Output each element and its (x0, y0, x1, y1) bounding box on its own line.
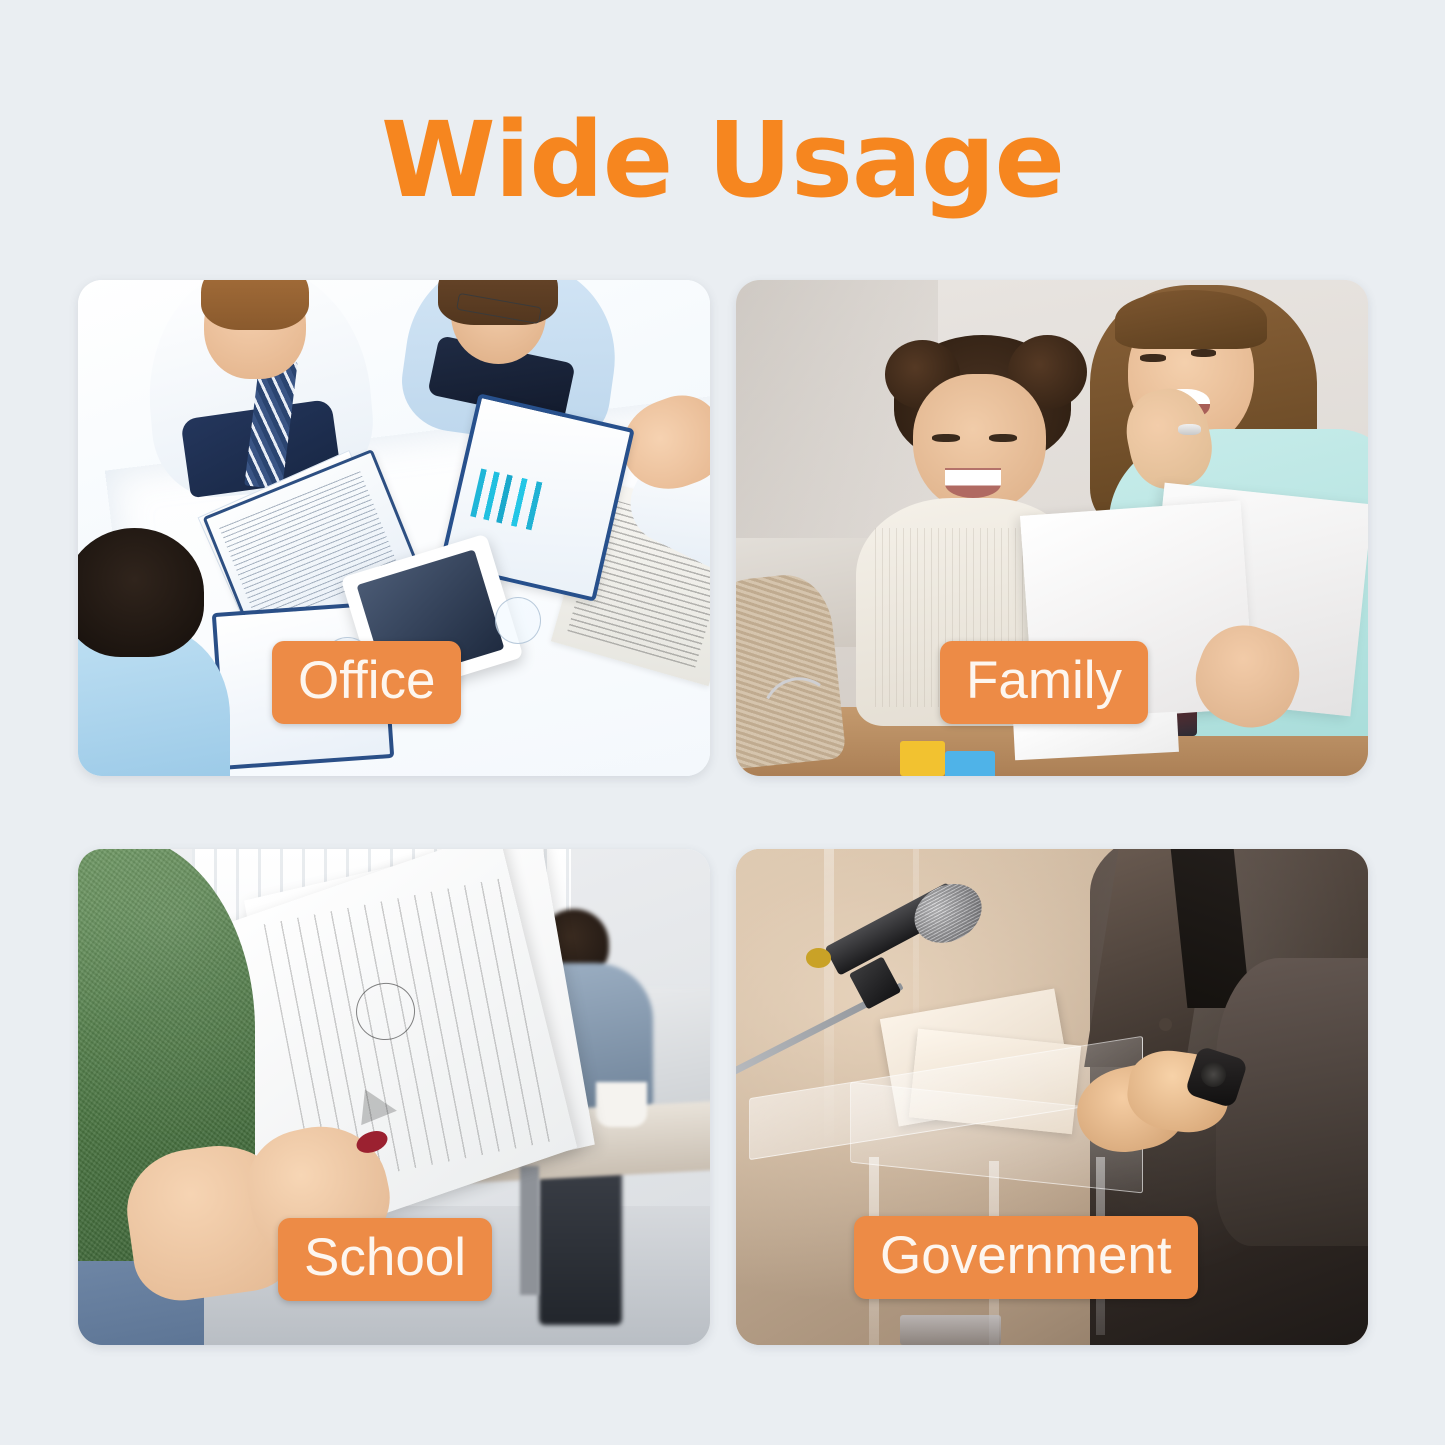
usage-card-office[interactable]: Office (78, 280, 710, 776)
page-title: Wide Usage (0, 108, 1445, 212)
usage-card-family[interactable]: Family (736, 280, 1368, 776)
usage-scenario-grid: Office (78, 280, 1368, 1345)
badge-office: Office (272, 641, 461, 724)
badge-school: School (278, 1218, 492, 1301)
usage-card-school[interactable]: School (78, 849, 710, 1345)
badge-family: Family (940, 641, 1148, 724)
usage-card-government[interactable]: Government (736, 849, 1368, 1345)
badge-government: Government (854, 1216, 1198, 1299)
